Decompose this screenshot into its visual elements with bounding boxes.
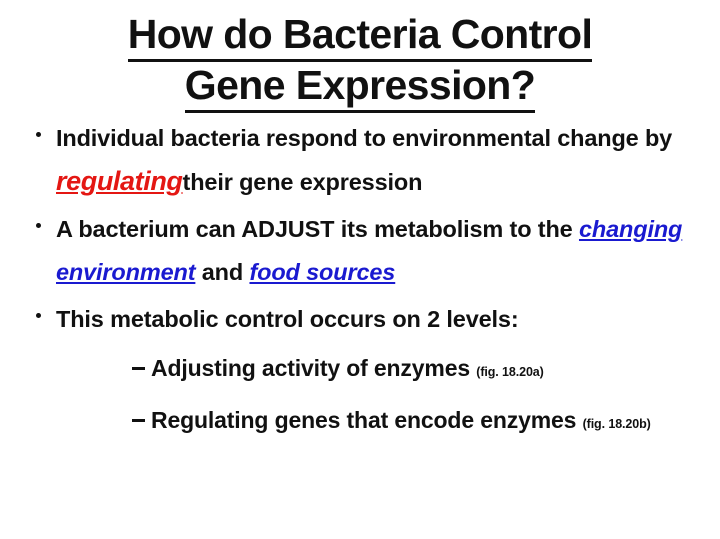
bullet-dot-icon [36,132,41,137]
sub-bullet-list: Adjusting activity of enzymes (fig. 18.2… [56,347,714,445]
bullet-2-run-3: and [195,259,249,285]
sub-bullet-1-label: Adjusting activity of enzymes [151,355,470,381]
sub-bullet-1-text: Adjusting activity of enzymes (fig. 18.2… [151,347,714,393]
list-item: Individual bacteria respond to environme… [0,117,714,204]
bullet-dot-icon [36,223,41,228]
sub-bullet-2-label: Regulating genes that encode enzymes [151,407,576,433]
sub-bullet-1-figure-ref: (fig. 18.20a) [476,365,543,379]
sub-list-item: Adjusting activity of enzymes (fig. 18.2… [56,347,714,393]
dash-icon [132,367,145,370]
title-line-1-text: How do Bacteria Control [128,11,593,62]
bullet-dot-icon [36,313,41,318]
bullet-1-run-3: their gene expression [183,169,423,195]
bullet-list: Individual bacteria respond to environme… [0,113,720,445]
slide-title: How do Bacteria Control Gene Expression? [0,0,720,113]
bullet-2-text: A bacterium can ADJUST its metabolism to… [56,208,714,294]
sub-bullet-2-text: Regulating genes that encode enzymes (fi… [151,399,714,445]
bullet-2-run-4-emphasis: food sources [249,259,395,285]
sub-list-item: Regulating genes that encode enzymes (fi… [56,399,714,445]
slide: How do Bacteria Control Gene Expression?… [0,0,720,539]
sub-bullet-2-figure-ref: (fig. 18.20b) [583,417,651,431]
bullet-1-text: Individual bacteria respond to environme… [56,117,714,204]
title-line-2-text: Gene Expression? [185,62,535,113]
title-line-2: Gene Expression? [0,62,720,113]
dash-icon [132,419,145,422]
bullet-1-run-2-emphasis: regulating [56,166,183,196]
list-item: This metabolic control occurs on 2 level… [0,298,714,445]
bullet-2-run-1: A bacterium can ADJUST its metabolism to… [56,216,579,242]
bullet-3-run-1: This metabolic control occurs on 2 level… [56,306,519,332]
title-line-1: How do Bacteria Control [0,11,720,62]
bullet-1-run-1: Individual bacteria respond to environme… [56,125,672,151]
bullet-3-text: This metabolic control occurs on 2 level… [56,298,714,341]
list-item: A bacterium can ADJUST its metabolism to… [0,208,714,294]
